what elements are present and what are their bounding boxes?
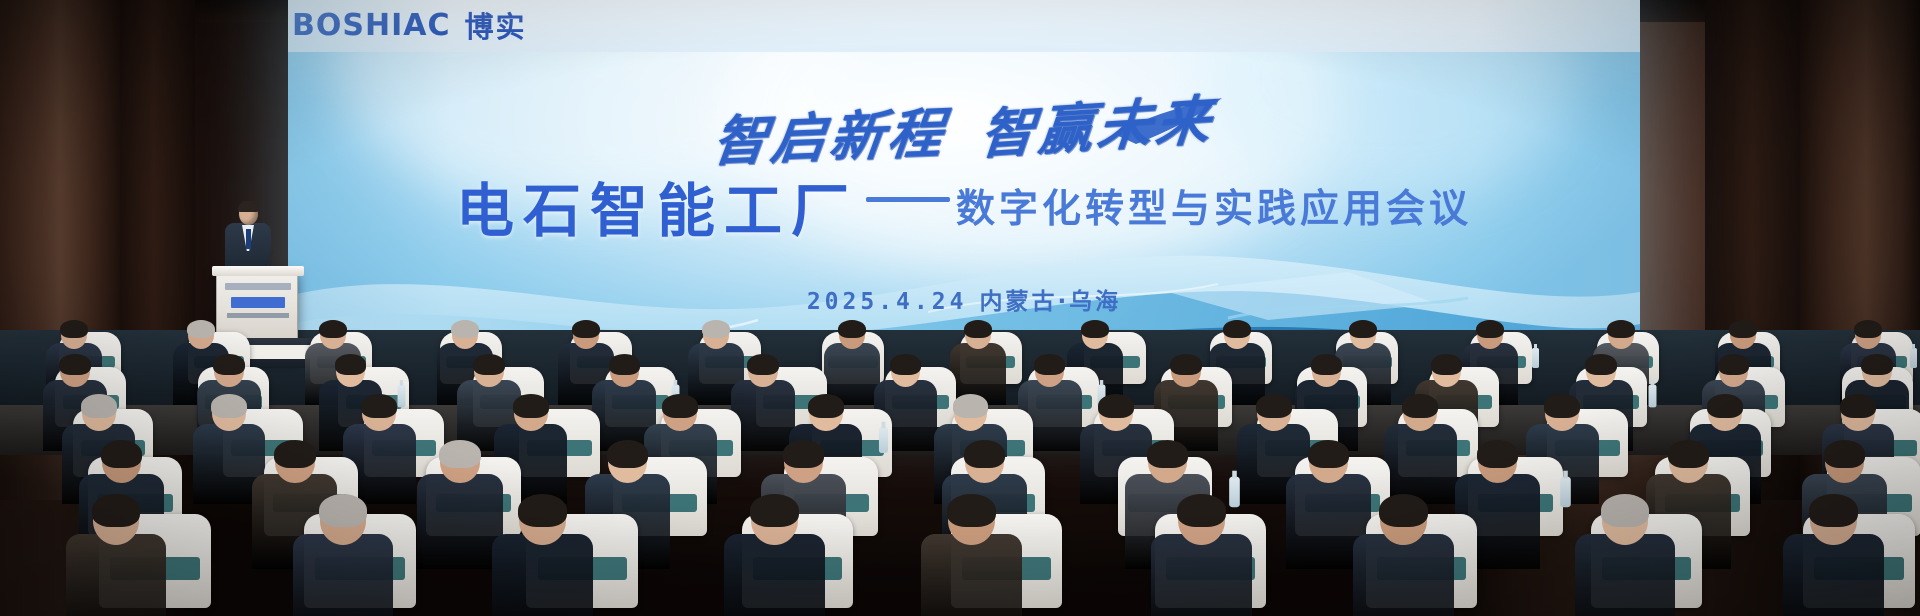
audience-body xyxy=(492,534,593,616)
audience-body xyxy=(1575,534,1676,616)
calligraphy-phrase-2: 智赢未来 xyxy=(977,75,1218,169)
audience-hair xyxy=(361,394,397,418)
logo-chinese-name: 博实 xyxy=(464,4,526,46)
audience-body xyxy=(293,534,394,616)
audience-hair xyxy=(60,320,88,338)
audience-hair xyxy=(964,320,992,338)
audience-hair xyxy=(572,320,600,338)
audience-body xyxy=(921,534,1022,616)
audience-hair xyxy=(1349,320,1377,338)
audience-hair xyxy=(1034,354,1066,375)
speaker-tie xyxy=(246,229,251,249)
boshiac-logo: BOSHIAC 博实 xyxy=(288,4,527,46)
title-separator-dash xyxy=(866,197,950,202)
audience-body xyxy=(1783,534,1884,616)
main-subtitle-text: 数字化转型与实践应用会议 xyxy=(956,187,1472,232)
audience-hair xyxy=(1809,494,1858,527)
calligraphy-line: 智启新程智赢未来 xyxy=(709,78,1219,176)
audience-hair xyxy=(1601,494,1650,527)
audience-hair xyxy=(59,354,91,375)
water-bottle xyxy=(879,427,888,453)
audience-hair xyxy=(439,440,481,468)
audience-hair xyxy=(750,494,799,527)
audience-area xyxy=(0,300,1920,616)
audience-hair xyxy=(1861,354,1893,375)
audience-hair xyxy=(1170,354,1202,375)
audience-hair xyxy=(451,320,479,338)
audience-hair xyxy=(1840,394,1876,418)
main-title-text: 电石智能工厂 xyxy=(456,177,858,245)
audience-hair xyxy=(1081,320,1109,338)
audience-hair xyxy=(211,394,247,418)
water-bottle xyxy=(398,384,406,407)
audience-hair xyxy=(1256,394,1292,418)
audience-hair xyxy=(1311,354,1343,375)
audience-hair xyxy=(1729,320,1757,338)
audience-body xyxy=(417,474,502,568)
audience-body xyxy=(1151,534,1252,616)
audience-hair xyxy=(473,354,505,375)
audience-hair xyxy=(101,440,143,468)
screen-logo-bar: BOSHIAC 博实 xyxy=(288,0,1640,52)
speaker-hair xyxy=(238,201,259,212)
audience-hair xyxy=(1308,440,1350,468)
water-bottle xyxy=(1532,348,1539,368)
audience-hair xyxy=(518,494,567,527)
podium-logo-strip xyxy=(225,283,291,290)
main-title: 电石智能工厂数字化转型与实践应用会议 xyxy=(288,164,1640,248)
audience-hair xyxy=(274,440,316,468)
water-bottle xyxy=(1560,476,1571,506)
audience-hair xyxy=(1431,354,1463,375)
audience-hair xyxy=(607,440,649,468)
audience-hair xyxy=(1177,494,1226,527)
water-bottle xyxy=(1910,348,1917,368)
audience-hair xyxy=(783,440,825,468)
audience-hair xyxy=(319,494,368,527)
water-bottle xyxy=(1649,384,1657,407)
audience-hair xyxy=(1379,494,1428,527)
audience-hair xyxy=(702,320,730,338)
audience-hair xyxy=(513,394,549,418)
audience-hair xyxy=(1223,320,1251,338)
audience-hair xyxy=(1668,440,1710,468)
audience-hair xyxy=(609,354,641,375)
audience-hair xyxy=(1607,320,1635,338)
audience-hair xyxy=(1476,320,1504,338)
audience-hair xyxy=(890,354,922,375)
audience-body xyxy=(66,534,167,616)
audience-hair xyxy=(953,394,989,418)
audience-body xyxy=(724,534,825,616)
audience-hair xyxy=(213,354,245,375)
audience-hair xyxy=(1544,394,1580,418)
audience-hair xyxy=(808,394,844,418)
calligraphy-phrase-1: 智启新程 xyxy=(709,101,950,174)
audience-hair xyxy=(1585,354,1617,375)
audience-hair xyxy=(1147,440,1189,468)
audience-hair xyxy=(838,320,866,338)
audience-hair xyxy=(964,440,1006,468)
audience-hair xyxy=(1477,440,1519,468)
audience-hair xyxy=(1098,394,1134,418)
audience-hair xyxy=(187,320,215,338)
water-bottle xyxy=(1230,476,1241,506)
audience-hair xyxy=(747,354,779,375)
audience-hair xyxy=(1854,320,1882,338)
audience-hair xyxy=(947,494,996,527)
audience-hair xyxy=(1402,394,1438,418)
screen-text-block: 智启新程智赢未来 电石智能工厂数字化转型与实践应用会议 2025.4.24内蒙古… xyxy=(288,88,1640,316)
audience-hair xyxy=(662,394,698,418)
audience-hair xyxy=(335,354,367,375)
logo-latin-name: BOSHIAC xyxy=(292,8,450,43)
audience-hair xyxy=(1718,354,1750,375)
audience-body xyxy=(1353,534,1454,616)
calligraphy-headline: 智启新程智赢未来 xyxy=(288,88,1640,158)
audience-body xyxy=(1384,424,1457,505)
podium-top xyxy=(212,266,304,276)
audience-hair xyxy=(1707,394,1743,418)
audience-hair xyxy=(92,494,141,527)
audience-hair xyxy=(81,394,117,418)
audience-hair xyxy=(319,320,347,338)
conference-photo: BOSHIAC 博实 xyxy=(0,0,1920,616)
audience-hair xyxy=(1824,440,1866,468)
